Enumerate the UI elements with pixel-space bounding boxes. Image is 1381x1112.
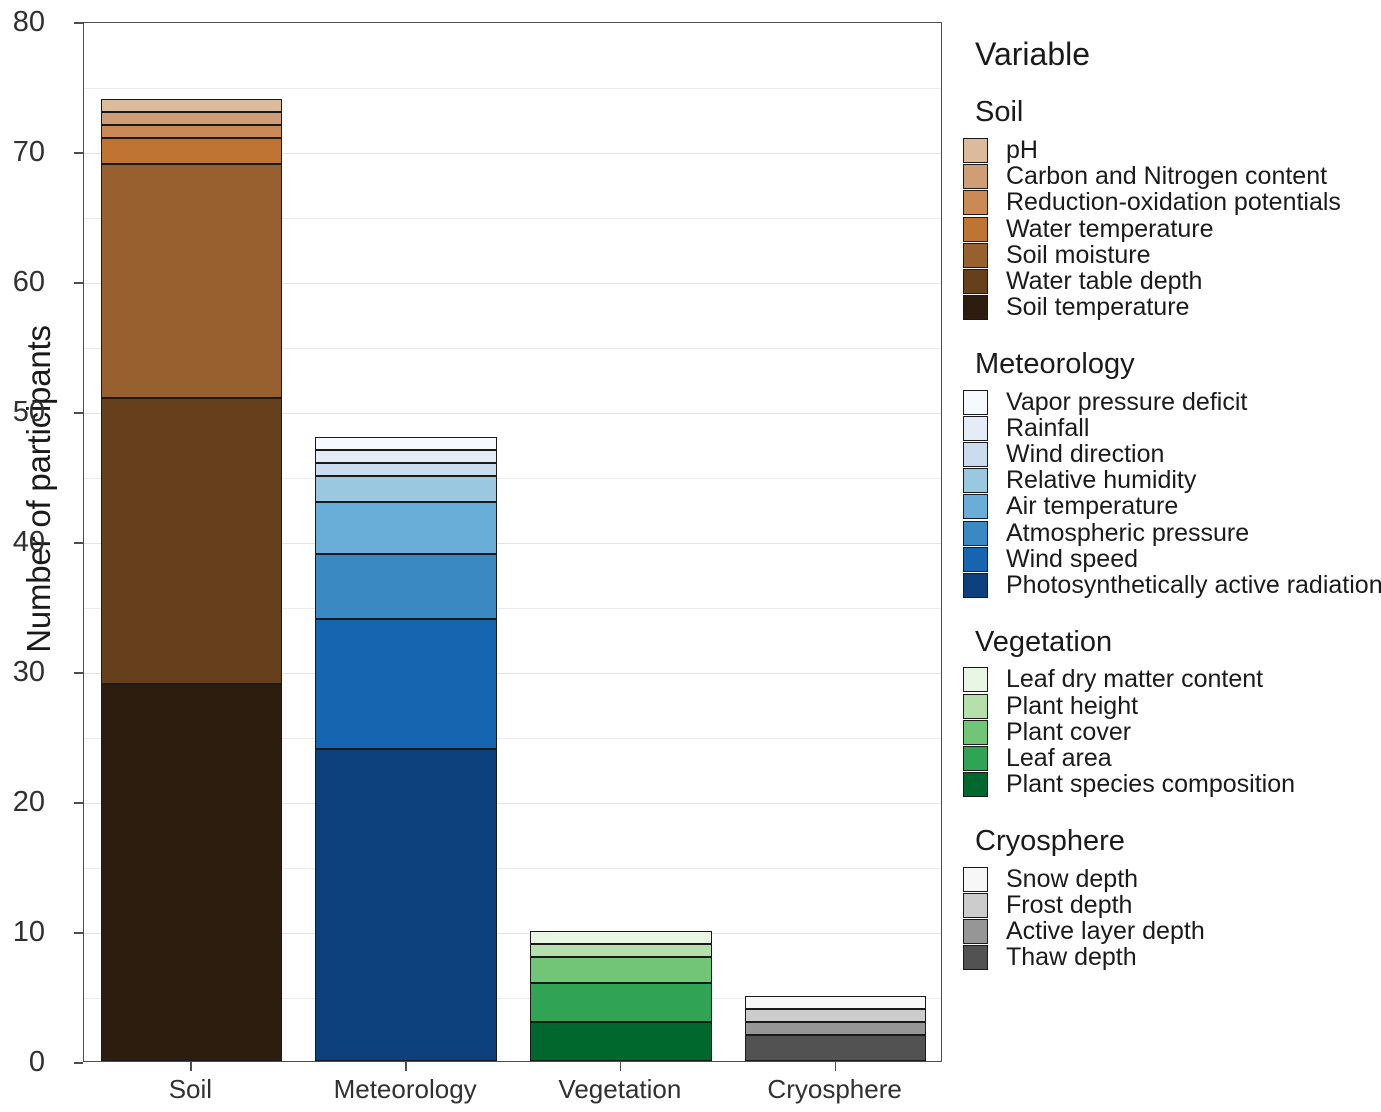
legend-group-cryosphere: CryosphereSnow depthFrost depthActive la… <box>963 825 1381 971</box>
legend-color-swatch-icon <box>963 945 988 970</box>
legend-item-label: Photosynthetically active radiation <box>1006 573 1381 598</box>
bar-segment[interactable] <box>745 1009 926 1022</box>
legend: Variable SoilpHCarbon and Nitrogen conte… <box>963 38 1381 998</box>
legend-item[interactable]: Vapor pressure deficit <box>963 389 1381 415</box>
legend-item[interactable]: Active layer depth <box>963 919 1381 945</box>
bar-segment[interactable] <box>315 463 496 476</box>
legend-item[interactable]: Leaf area <box>963 745 1381 771</box>
x-axis-tick-mark <box>835 1062 837 1071</box>
bar-segment[interactable] <box>530 931 711 944</box>
legend-item-label: Leaf area <box>1006 746 1112 771</box>
y-axis-tick-label: 80 <box>0 6 45 39</box>
y-axis-tick-label: 60 <box>0 266 45 299</box>
legend-item-label: Frost depth <box>1006 893 1132 918</box>
legend-item-label: Wind direction <box>1006 442 1164 467</box>
legend-color-swatch-icon <box>963 746 988 771</box>
stacked-bar-chart-figure: Number of participants Variable SoilpHCa… <box>0 0 1381 1112</box>
legend-item-label: Thaw depth <box>1006 945 1137 970</box>
y-axis-tick-label: 50 <box>0 396 45 429</box>
bar-segment[interactable] <box>530 983 711 1022</box>
bar-segment[interactable] <box>745 1035 926 1061</box>
y-axis-tick-label: 10 <box>0 916 45 949</box>
legend-item[interactable]: Photosynthetically active radiation <box>963 572 1381 598</box>
legend-item-label: Air temperature <box>1006 494 1178 519</box>
legend-item-label: Reduction-oxidation potentials <box>1006 190 1341 215</box>
legend-color-swatch-icon <box>963 720 988 745</box>
legend-item[interactable]: Frost depth <box>963 892 1381 918</box>
legend-color-swatch-icon <box>963 269 988 294</box>
y-axis-tick-mark <box>74 412 83 414</box>
bar-segment[interactable] <box>315 619 496 749</box>
bar-segment[interactable] <box>315 450 496 463</box>
legend-item[interactable]: Thaw depth <box>963 945 1381 971</box>
legend-item-label: Plant species composition <box>1006 772 1295 797</box>
bar-segment[interactable] <box>530 957 711 983</box>
legend-item[interactable]: Carbon and Nitrogen content <box>963 164 1381 190</box>
x-axis-tick-mark <box>190 1062 192 1071</box>
bar-segment[interactable] <box>530 1022 711 1061</box>
legend-color-swatch-icon <box>963 295 988 320</box>
legend-item[interactable]: Soil temperature <box>963 294 1381 320</box>
bar-soil[interactable] <box>101 21 282 1061</box>
legend-item[interactable]: Air temperature <box>963 494 1381 520</box>
legend-item-label: Water temperature <box>1006 217 1213 242</box>
legend-item-label: Soil temperature <box>1006 295 1189 320</box>
legend-item[interactable]: Snow depth <box>963 866 1381 892</box>
bar-segment[interactable] <box>101 125 282 138</box>
y-axis-tick-mark <box>74 932 83 934</box>
y-axis-tick-mark <box>74 152 83 154</box>
legend-item[interactable]: Atmospheric pressure <box>963 520 1381 546</box>
legend-item-label: Soil moisture <box>1006 243 1151 268</box>
legend-color-swatch-icon <box>963 547 988 572</box>
legend-color-swatch-icon <box>963 667 988 692</box>
legend-group-title: Soil <box>975 96 1381 129</box>
legend-group-soil: SoilpHCarbon and Nitrogen contentReducti… <box>963 96 1381 321</box>
bar-segment[interactable] <box>530 944 711 957</box>
legend-color-swatch-icon <box>963 521 988 546</box>
bar-segment[interactable] <box>315 749 496 1061</box>
legend-item[interactable]: Relative humidity <box>963 468 1381 494</box>
bar-segment[interactable] <box>101 99 282 112</box>
plot-panel <box>83 22 942 1062</box>
bar-cryosphere[interactable] <box>745 21 926 1061</box>
bar-segment[interactable] <box>101 112 282 125</box>
legend-item-label: Rainfall <box>1006 416 1089 441</box>
legend-color-swatch-icon <box>963 468 988 493</box>
y-axis-tick-label: 70 <box>0 136 45 169</box>
bar-meteorology[interactable] <box>315 21 496 1061</box>
x-axis-tick-mark <box>620 1062 622 1071</box>
legend-item-label: Snow depth <box>1006 867 1138 892</box>
legend-item-label: Active layer depth <box>1006 919 1205 944</box>
legend-color-swatch-icon <box>963 138 988 163</box>
bar-segment[interactable] <box>315 437 496 450</box>
legend-item[interactable]: Soil moisture <box>963 242 1381 268</box>
legend-item-label: Wind speed <box>1006 547 1138 572</box>
x-axis-tick-label-cryosphere: Cryosphere <box>767 1074 901 1105</box>
y-axis-tick-mark <box>74 802 83 804</box>
legend-color-swatch-icon <box>963 190 988 215</box>
legend-item-label: Carbon and Nitrogen content <box>1006 164 1327 189</box>
x-axis-tick-label-meteorology: Meteorology <box>334 1074 477 1105</box>
legend-item[interactable]: Water temperature <box>963 216 1381 242</box>
y-axis-tick-mark <box>74 282 83 284</box>
legend-item[interactable]: Wind direction <box>963 441 1381 467</box>
legend-color-swatch-icon <box>963 243 988 268</box>
legend-color-swatch-icon <box>963 164 988 189</box>
y-axis-tick-mark <box>74 22 83 24</box>
y-axis-tick-mark <box>74 542 83 544</box>
legend-item[interactable]: Wind speed <box>963 546 1381 572</box>
y-axis-title: Number of participants <box>20 309 58 669</box>
bar-segment[interactable] <box>101 164 282 398</box>
legend-color-swatch-icon <box>963 867 988 892</box>
legend-item-label: Water table depth <box>1006 269 1202 294</box>
bar-segment[interactable] <box>101 398 282 684</box>
bar-segment[interactable] <box>315 554 496 619</box>
legend-item[interactable]: Leaf dry matter content <box>963 667 1381 693</box>
legend-group-title: Vegetation <box>975 626 1381 659</box>
legend-item[interactable]: Plant cover <box>963 719 1381 745</box>
legend-group-vegetation: VegetationLeaf dry matter contentPlant h… <box>963 626 1381 798</box>
legend-color-swatch-icon <box>963 442 988 467</box>
bar-segment[interactable] <box>315 476 496 502</box>
legend-color-swatch-icon <box>963 919 988 944</box>
legend-color-swatch-icon <box>963 416 988 441</box>
legend-item-label: Plant height <box>1006 694 1138 719</box>
y-axis-tick-mark <box>74 672 83 674</box>
legend-group-title: Cryosphere <box>975 825 1381 858</box>
legend-item-label: Vapor pressure deficit <box>1006 390 1247 415</box>
legend-item[interactable]: Water table depth <box>963 268 1381 294</box>
legend-item[interactable]: Plant height <box>963 693 1381 719</box>
legend-item-label: pH <box>1006 138 1038 163</box>
legend-group-meteorology: MeteorologyVapor pressure deficitRainfal… <box>963 348 1381 599</box>
y-axis-tick-label: 30 <box>0 656 45 689</box>
legend-item-label: Leaf dry matter content <box>1006 667 1263 692</box>
bar-segment[interactable] <box>101 138 282 164</box>
y-axis-tick-label: 0 <box>0 1046 45 1079</box>
legend-item[interactable]: Rainfall <box>963 415 1381 441</box>
legend-color-swatch-icon <box>963 217 988 242</box>
legend-color-swatch-icon <box>963 494 988 519</box>
bar-segment[interactable] <box>101 684 282 1061</box>
bar-vegetation[interactable] <box>530 21 711 1061</box>
legend-color-swatch-icon <box>963 573 988 598</box>
bar-segment[interactable] <box>745 996 926 1009</box>
x-axis-tick-label-soil: Soil <box>169 1074 212 1105</box>
bars-layer <box>84 23 941 1061</box>
legend-item[interactable]: Plant species composition <box>963 772 1381 798</box>
legend-item-label: Relative humidity <box>1006 468 1196 493</box>
x-axis-tick-mark <box>405 1062 407 1071</box>
y-axis-tick-label: 40 <box>0 526 45 559</box>
legend-item[interactable]: Reduction-oxidation potentials <box>963 190 1381 216</box>
legend-color-swatch-icon <box>963 390 988 415</box>
legend-group-title: Meteorology <box>975 348 1381 381</box>
x-axis-tick-label-vegetation: Vegetation <box>558 1074 681 1105</box>
legend-item-label: Plant cover <box>1006 720 1131 745</box>
legend-color-swatch-icon <box>963 694 988 719</box>
bar-segment[interactable] <box>745 1022 926 1035</box>
legend-item[interactable]: pH <box>963 137 1381 163</box>
y-axis-tick-mark <box>74 1062 83 1064</box>
legend-color-swatch-icon <box>963 772 988 797</box>
y-axis-tick-label: 20 <box>0 786 45 819</box>
legend-title: Variable <box>975 38 1381 70</box>
bar-segment[interactable] <box>315 502 496 554</box>
legend-color-swatch-icon <box>963 893 988 918</box>
legend-item-label: Atmospheric pressure <box>1006 521 1249 546</box>
legend-groups: SoilpHCarbon and Nitrogen contentReducti… <box>963 96 1381 971</box>
